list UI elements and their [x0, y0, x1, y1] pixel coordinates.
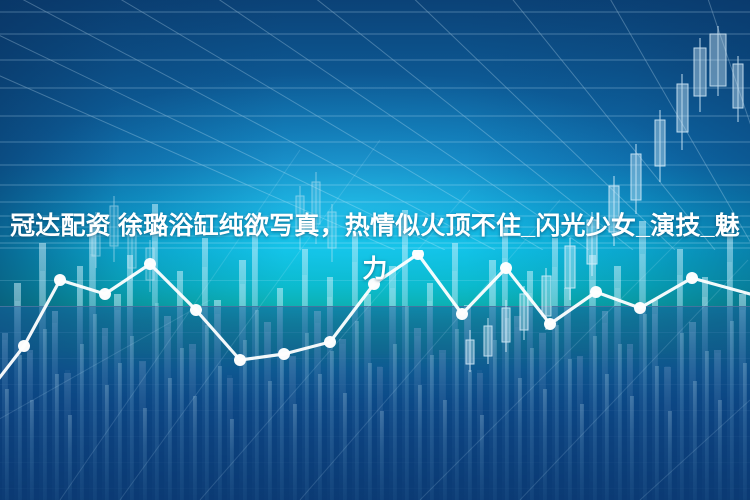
banner-image: 冠达配资 徐璐浴缸纯欲写真，热情似火顶不住_闪光少女_演技_魅力 [0, 0, 750, 500]
page-title: 冠达配资 徐璐浴缸纯欲写真，热情似火顶不住_闪光少女_演技_魅力 [0, 205, 750, 291]
